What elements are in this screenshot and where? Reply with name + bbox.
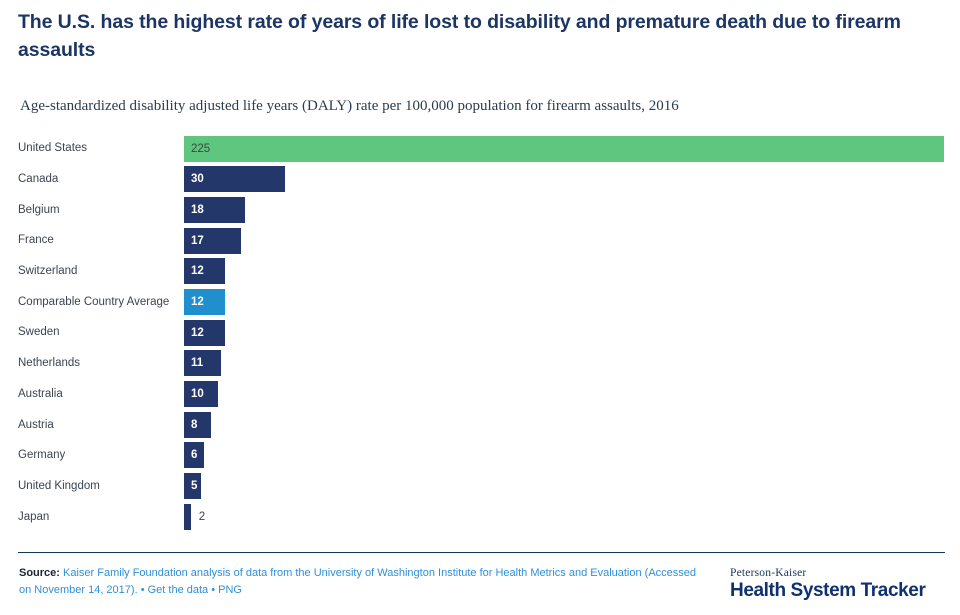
bar-chart: United States225Canada30Belgium18France1…	[0, 133, 960, 538]
chart-row: Austria8	[0, 409, 960, 440]
bar-value-label: 2	[191, 504, 205, 530]
bar-value-label: 225	[184, 136, 210, 162]
bar-value-label: 6	[184, 442, 197, 468]
bar-track: 12	[184, 286, 946, 317]
chart-row: Germany6	[0, 440, 960, 471]
bar-track: 17	[184, 225, 946, 256]
footer-separator-2: •	[211, 584, 215, 596]
bar-value-label: 30	[184, 166, 204, 192]
category-label: Australia	[0, 379, 168, 410]
bar-value-label: 12	[184, 258, 204, 284]
chart-row: Switzerland12	[0, 256, 960, 287]
bar-value-label: 5	[184, 473, 197, 499]
bar[interactable]	[184, 136, 944, 162]
category-label: Switzerland	[0, 256, 168, 287]
chart-row: United States225	[0, 133, 960, 164]
chart-row: France17	[0, 225, 960, 256]
bar-value-label: 11	[184, 350, 203, 376]
category-label: United States	[0, 133, 168, 164]
category-label: Japan	[0, 501, 168, 532]
bar-value-label: 12	[184, 289, 204, 315]
footer-divider	[18, 552, 945, 553]
bar-track: 12	[184, 317, 946, 348]
bar-track: 18	[184, 194, 946, 225]
source-citation-link[interactable]: Kaiser Family Foundation analysis of dat…	[19, 567, 696, 596]
bar-track: 6	[184, 440, 946, 471]
source-label: Source:	[19, 567, 60, 579]
logo-line-health-system-tracker: Health System Tracker	[730, 580, 945, 602]
chart-subtitle: Age-standardized disability adjusted lif…	[20, 96, 940, 116]
get-the-data-link[interactable]: Get the data	[148, 584, 209, 596]
category-label: France	[0, 225, 168, 256]
category-label: Netherlands	[0, 348, 168, 379]
bar-value-label: 12	[184, 320, 204, 346]
category-label: United Kingdom	[0, 471, 168, 502]
chart-row: Belgium18	[0, 194, 960, 225]
chart-page: The U.S. has the highest rate of years o…	[0, 0, 960, 615]
bar-track: 2	[184, 501, 946, 532]
category-label: Canada	[0, 164, 168, 195]
bar-value-label: 8	[184, 412, 197, 438]
bar-track: 12	[184, 256, 946, 287]
footer-separator-1: •	[141, 584, 145, 596]
png-link[interactable]: PNG	[218, 584, 242, 596]
chart-row: United Kingdom5	[0, 471, 960, 502]
bar-track: 225	[184, 133, 946, 164]
peterson-kaiser-logo: Peterson-Kaiser Health System Tracker	[730, 566, 945, 602]
bar-track: 8	[184, 409, 946, 440]
category-label: Comparable Country Average	[0, 286, 168, 317]
category-label: Belgium	[0, 194, 168, 225]
category-label: Germany	[0, 440, 168, 471]
chart-row: Canada30	[0, 164, 960, 195]
chart-row: Netherlands11	[0, 348, 960, 379]
page-title: The U.S. has the highest rate of years o…	[18, 8, 942, 64]
logo-line-peterson-kaiser: Peterson-Kaiser	[730, 566, 945, 580]
bar[interactable]	[184, 504, 191, 530]
bar-track: 5	[184, 471, 946, 502]
bar-value-label: 17	[184, 228, 204, 254]
chart-row: Japan2	[0, 501, 960, 532]
chart-row: Comparable Country Average12	[0, 286, 960, 317]
chart-row: Sweden12	[0, 317, 960, 348]
bar-value-label: 10	[184, 381, 204, 407]
bar-track: 10	[184, 379, 946, 410]
category-label: Sweden	[0, 317, 168, 348]
bar-track: 11	[184, 348, 946, 379]
bar-value-label: 18	[184, 197, 204, 223]
chart-row: Australia10	[0, 379, 960, 410]
bar-track: 30	[184, 164, 946, 195]
source-footnote: Source: Kaiser Family Foundation analysi…	[19, 565, 709, 598]
category-label: Austria	[0, 409, 168, 440]
